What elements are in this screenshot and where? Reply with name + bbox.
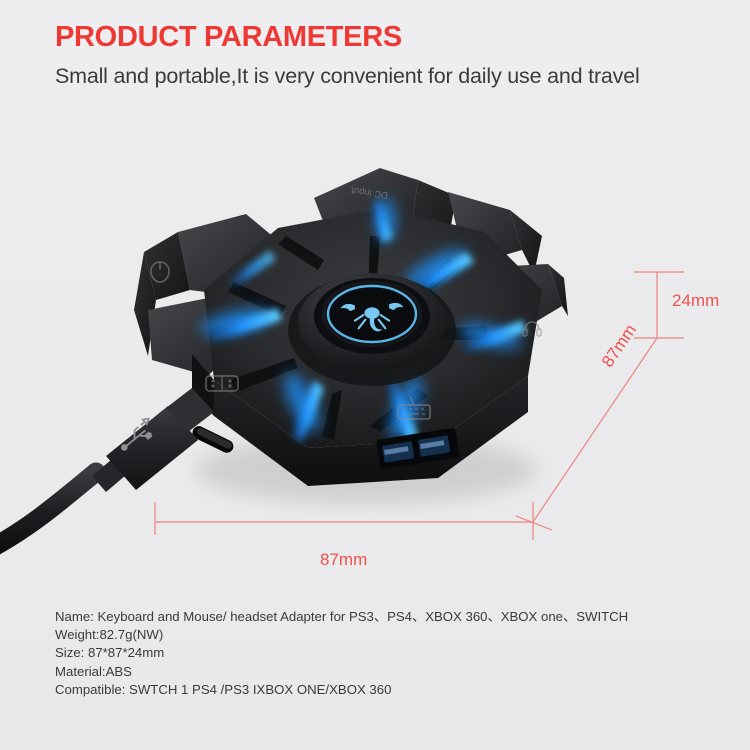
product-parameters-page: PRODUCT PARAMETERS Small and portable,It… (0, 0, 750, 750)
page-title: PRODUCT PARAMETERS (55, 22, 640, 54)
usb-cable (0, 120, 750, 560)
specifications-block: Name: Keyboard and Mouse/ headset Adapte… (55, 608, 715, 699)
spec-line-material: Material:ABS (55, 663, 715, 681)
cable-wire (0, 472, 96, 550)
spec-line-size: Size: 87*87*24mm (55, 644, 715, 662)
product-image-stage: DC input (0, 120, 750, 560)
spec-line-name: Name: Keyboard and Mouse/ headset Adapte… (55, 608, 715, 626)
spec-line-compatible: Compatible: SWTCH 1 PS4 /PS3 IXBOX ONE/X… (55, 681, 715, 699)
dimension-label-width: 87mm (320, 550, 367, 570)
header: PRODUCT PARAMETERS Small and portable,It… (55, 22, 640, 90)
dimension-label-height: 24mm (672, 291, 719, 311)
page-subtitle: Small and portable,It is very convenient… (55, 64, 640, 90)
spec-line-weight: Weight:82.7g(NW) (55, 626, 715, 644)
